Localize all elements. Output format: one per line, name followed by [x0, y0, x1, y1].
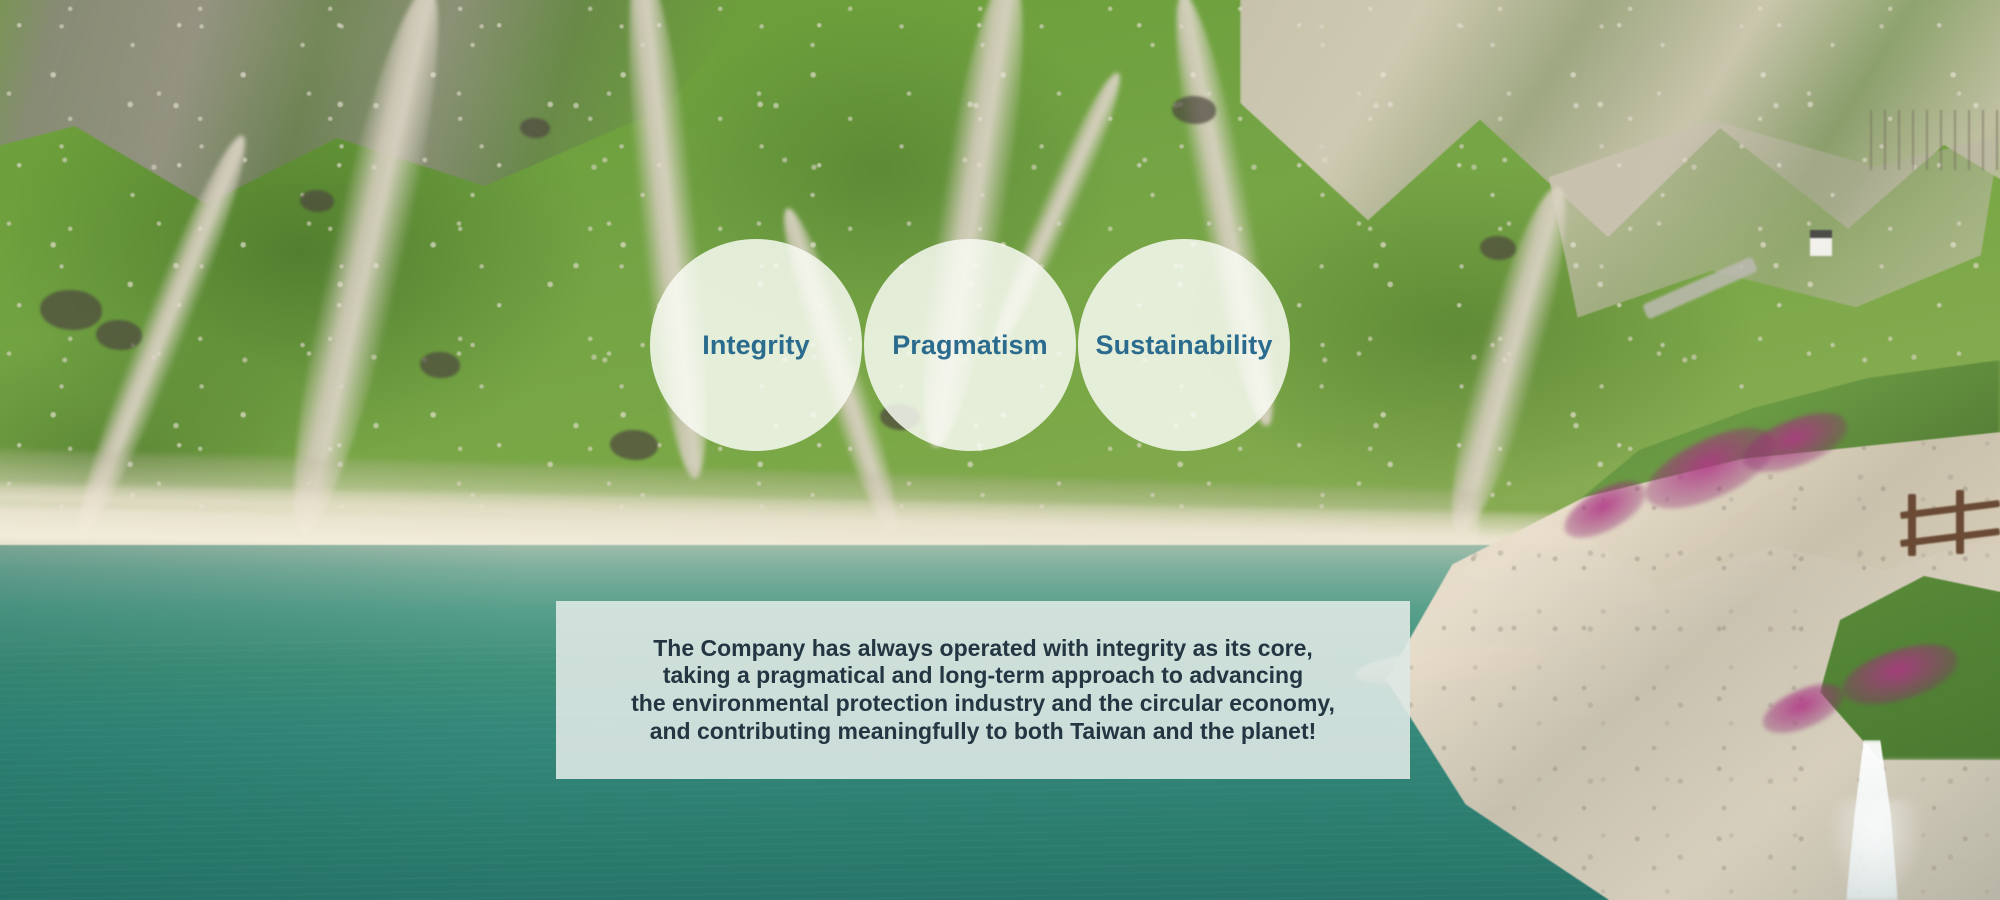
- caption-line: The Company has always operated with int…: [653, 635, 1313, 663]
- boulder: [520, 118, 550, 138]
- core-values-group: Integrity Pragmatism Sustainability: [650, 239, 1290, 451]
- boulder: [40, 290, 102, 330]
- boulder: [1172, 96, 1216, 124]
- value-circle-pragmatism[interactable]: Pragmatism: [864, 239, 1076, 451]
- hero-banner: Integrity Pragmatism Sustainability The …: [0, 0, 2000, 900]
- mission-statement-panel: The Company has always operated with int…: [556, 601, 1410, 779]
- caption-line: taking a pragmatical and long-term appro…: [663, 662, 1303, 690]
- value-circle-integrity[interactable]: Integrity: [650, 239, 862, 451]
- railing-post: [1908, 494, 1916, 556]
- value-circle-sustainability[interactable]: Sustainability: [1078, 239, 1290, 451]
- hillside-fence-posts: [1870, 110, 2000, 170]
- waterfall-spray: [1828, 800, 1924, 900]
- boulder: [300, 190, 334, 212]
- value-label-integrity: Integrity: [702, 332, 809, 359]
- railing-post: [1956, 490, 1964, 554]
- boulder: [1480, 236, 1516, 260]
- wooden-railing: [1900, 490, 2000, 560]
- boulder: [420, 352, 460, 378]
- value-label-sustainability: Sustainability: [1096, 332, 1273, 359]
- value-label-pragmatism: Pragmatism: [892, 332, 1048, 359]
- boulder: [96, 320, 142, 350]
- mountain-hut: [1810, 230, 1832, 256]
- caption-line: the environmental protection industry an…: [631, 690, 1335, 718]
- caption-line: and contributing meaningfully to both Ta…: [650, 718, 1317, 746]
